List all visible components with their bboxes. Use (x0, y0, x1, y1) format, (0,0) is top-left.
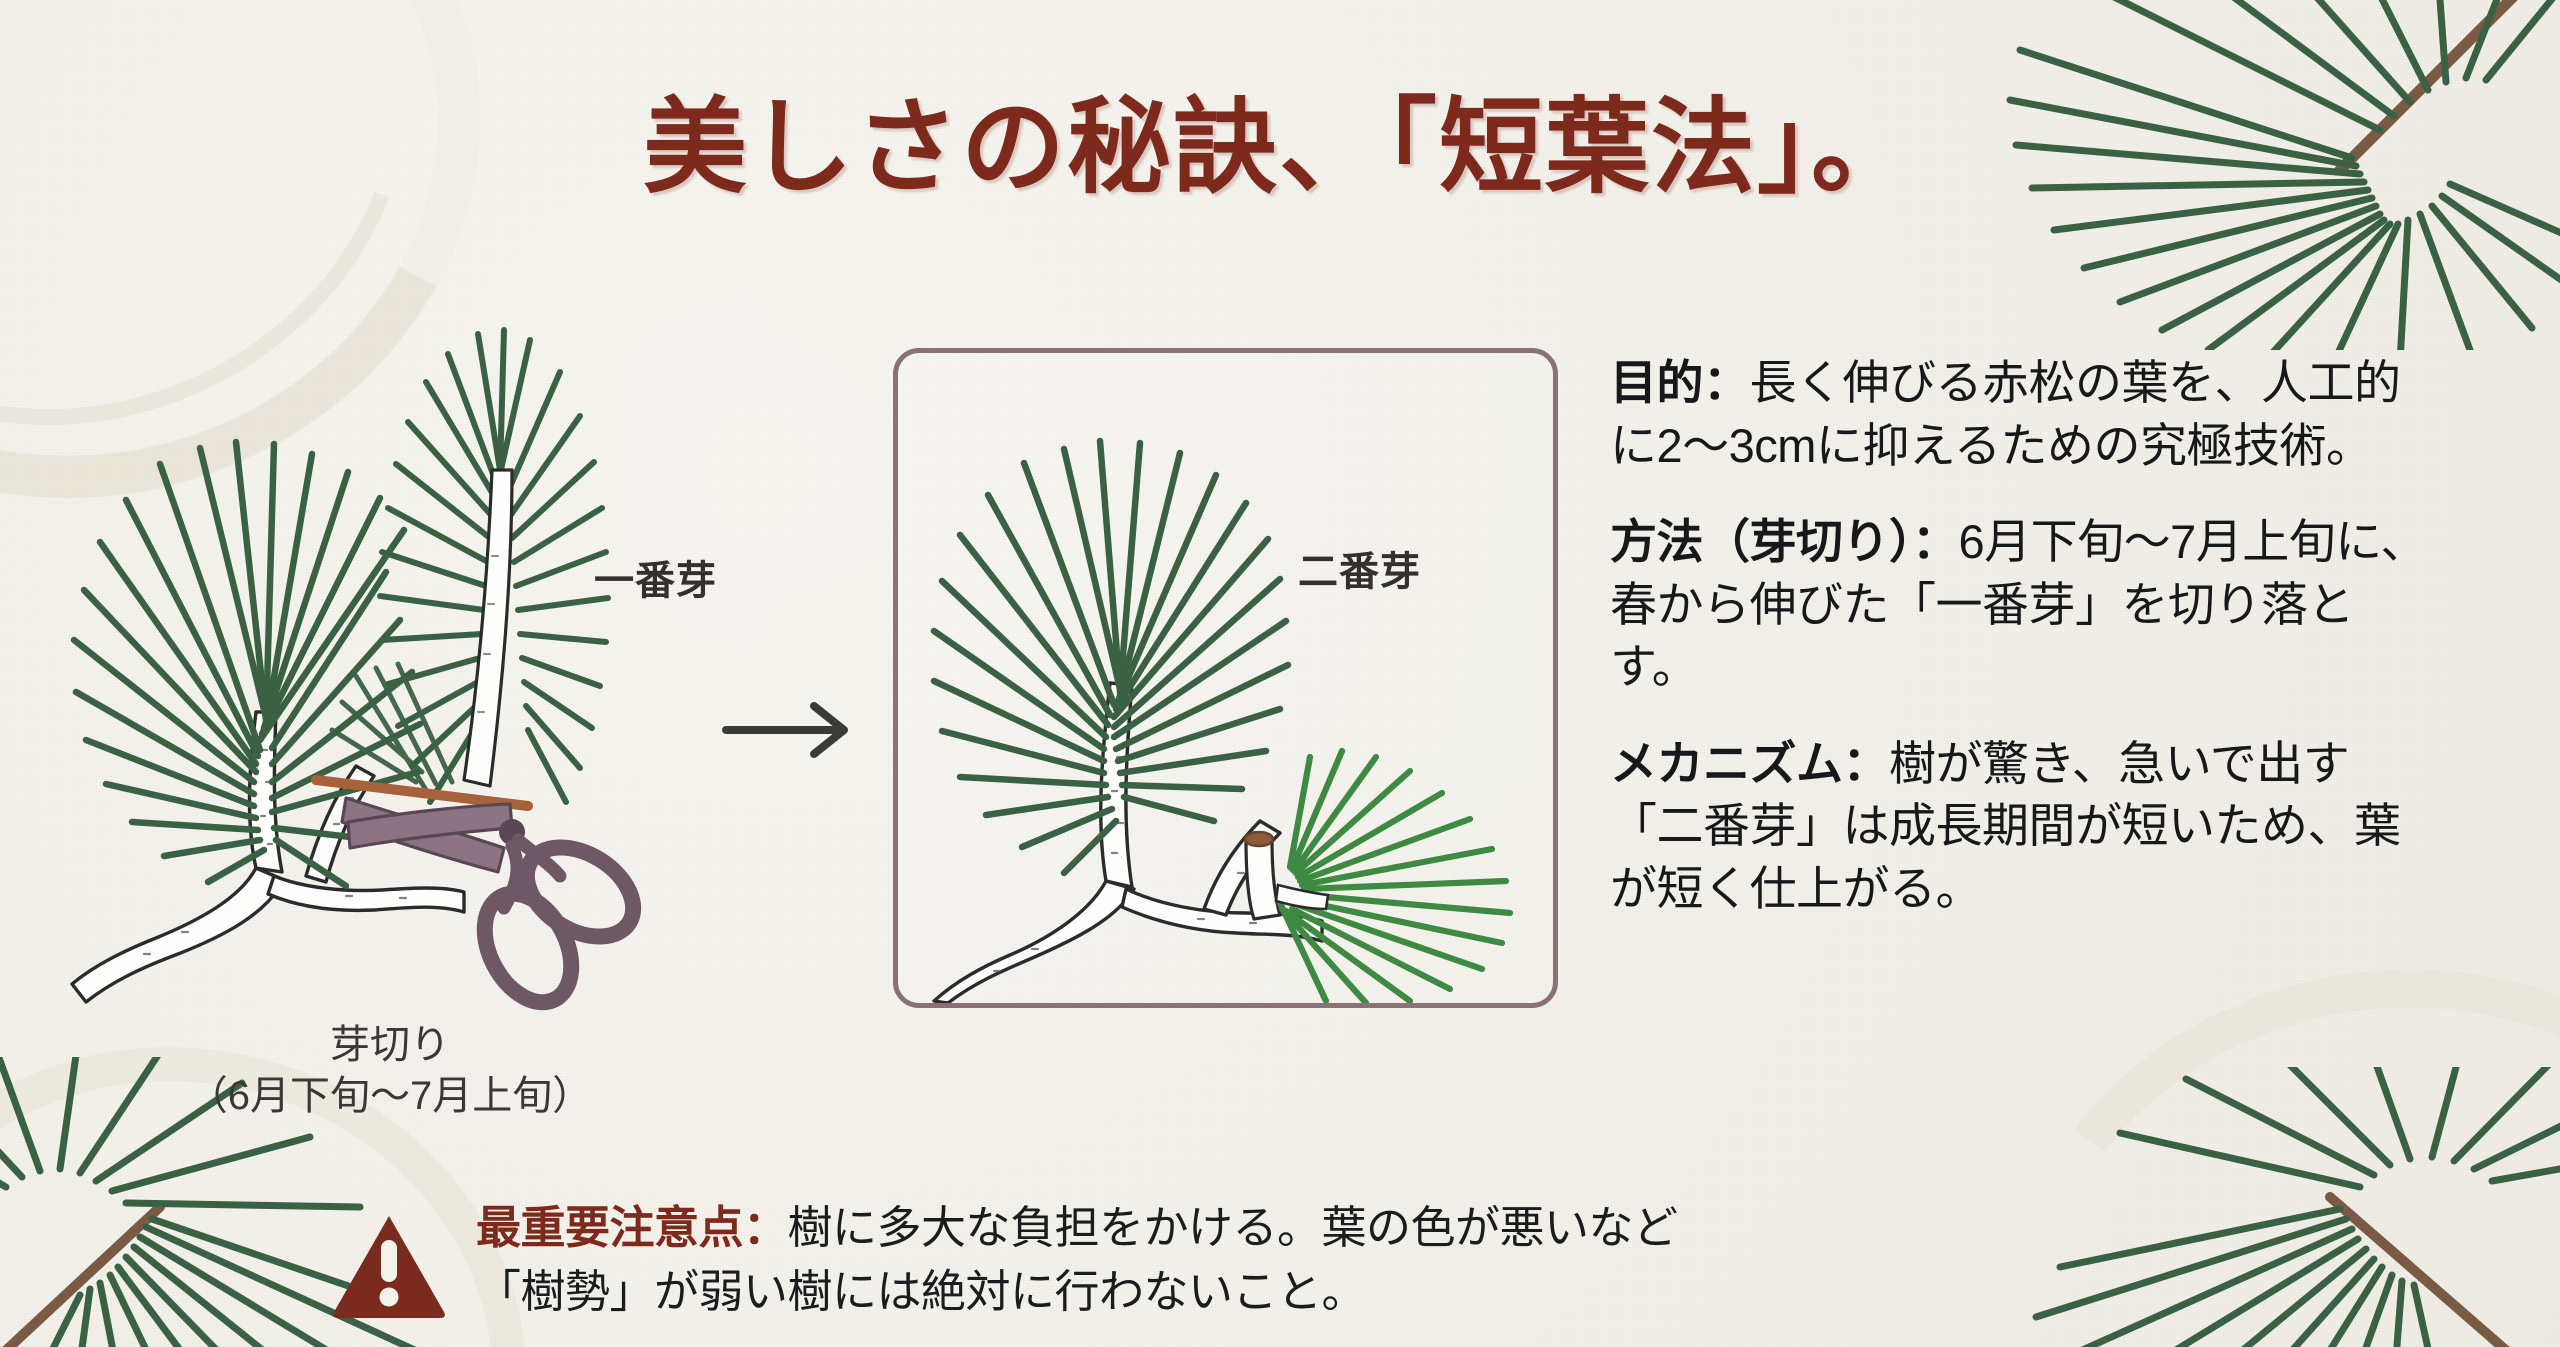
body-text-column: 目的：長く伸びる赤松の葉を、人工的に2〜3cmに抑えるための究極技術。 方法（芽… (1610, 352, 2440, 920)
slide-root: 美しさの秘訣、「短葉法」。 (0, 0, 2560, 1347)
warning-callout: 最重要注意点：樹に多大な負担をかける。葉の色が悪いなど 「樹勢」が弱い樹には絶対… (330, 1196, 1678, 1324)
pine-branch-icon-before (60, 320, 760, 1020)
cut-stub-icon (1245, 832, 1280, 919)
warning-text: 最重要注意点：樹に多大な負担をかける。葉の色が悪いなど 「樹勢」が弱い樹には絶対… (476, 1196, 1678, 1324)
warning-line-1-rest: 樹に多大な負担をかける。葉の色が悪いなど (788, 1202, 1678, 1253)
paragraph-purpose-lead: 目的： (1610, 356, 1750, 409)
warning-line-1: 最重要注意点：樹に多大な負担をかける。葉の色が悪いなど (476, 1196, 1678, 1260)
label-ichiban-me: 一番芽 (594, 548, 717, 606)
paragraph-mechanism-lead: メカニズム： (1610, 737, 1889, 790)
paragraph-method-lead: 方法（芽切り）： (1610, 515, 1959, 568)
page-title: 美しさの秘訣、「短葉法」。 (0, 62, 2560, 213)
arrow-right-icon (722, 700, 862, 760)
pine-spray-icon-bottom-right (2000, 1067, 2560, 1347)
result-frame: 二番芽 (893, 348, 1558, 1008)
warning-lead: 最重要注意点： (476, 1202, 788, 1253)
pine-branch-icon-after (898, 353, 1553, 1003)
label-niban-me: 二番芽 (1298, 539, 1421, 597)
warning-line-2: 「樹勢」が弱い樹には絶対に行わないこと。 (476, 1260, 1678, 1324)
brush-circle-decoration-bottom-right (1951, 909, 2560, 1347)
caption-mekiri: 芽切り （6月下旬〜7月上旬） (110, 1020, 670, 1122)
paragraph-mechanism: メカニズム：樹が驚き、急いで出す「二番芽」は成長期間が短いため、葉が短く仕上がる… (1610, 733, 2440, 921)
caption-mekiri-line2: （6月下旬〜7月上旬） (110, 1071, 670, 1122)
caption-mekiri-line1: 芽切り (110, 1020, 670, 1071)
warning-triangle-icon (330, 1210, 448, 1322)
paragraph-method: 方法（芽切り）：6月下旬〜7月上旬に、春から伸びた「一番芽」を切り落とす。 (1610, 511, 2440, 699)
paragraph-purpose: 目的：長く伸びる赤松の葉を、人工的に2〜3cmに抑えるための究極技術。 (1610, 352, 2440, 477)
